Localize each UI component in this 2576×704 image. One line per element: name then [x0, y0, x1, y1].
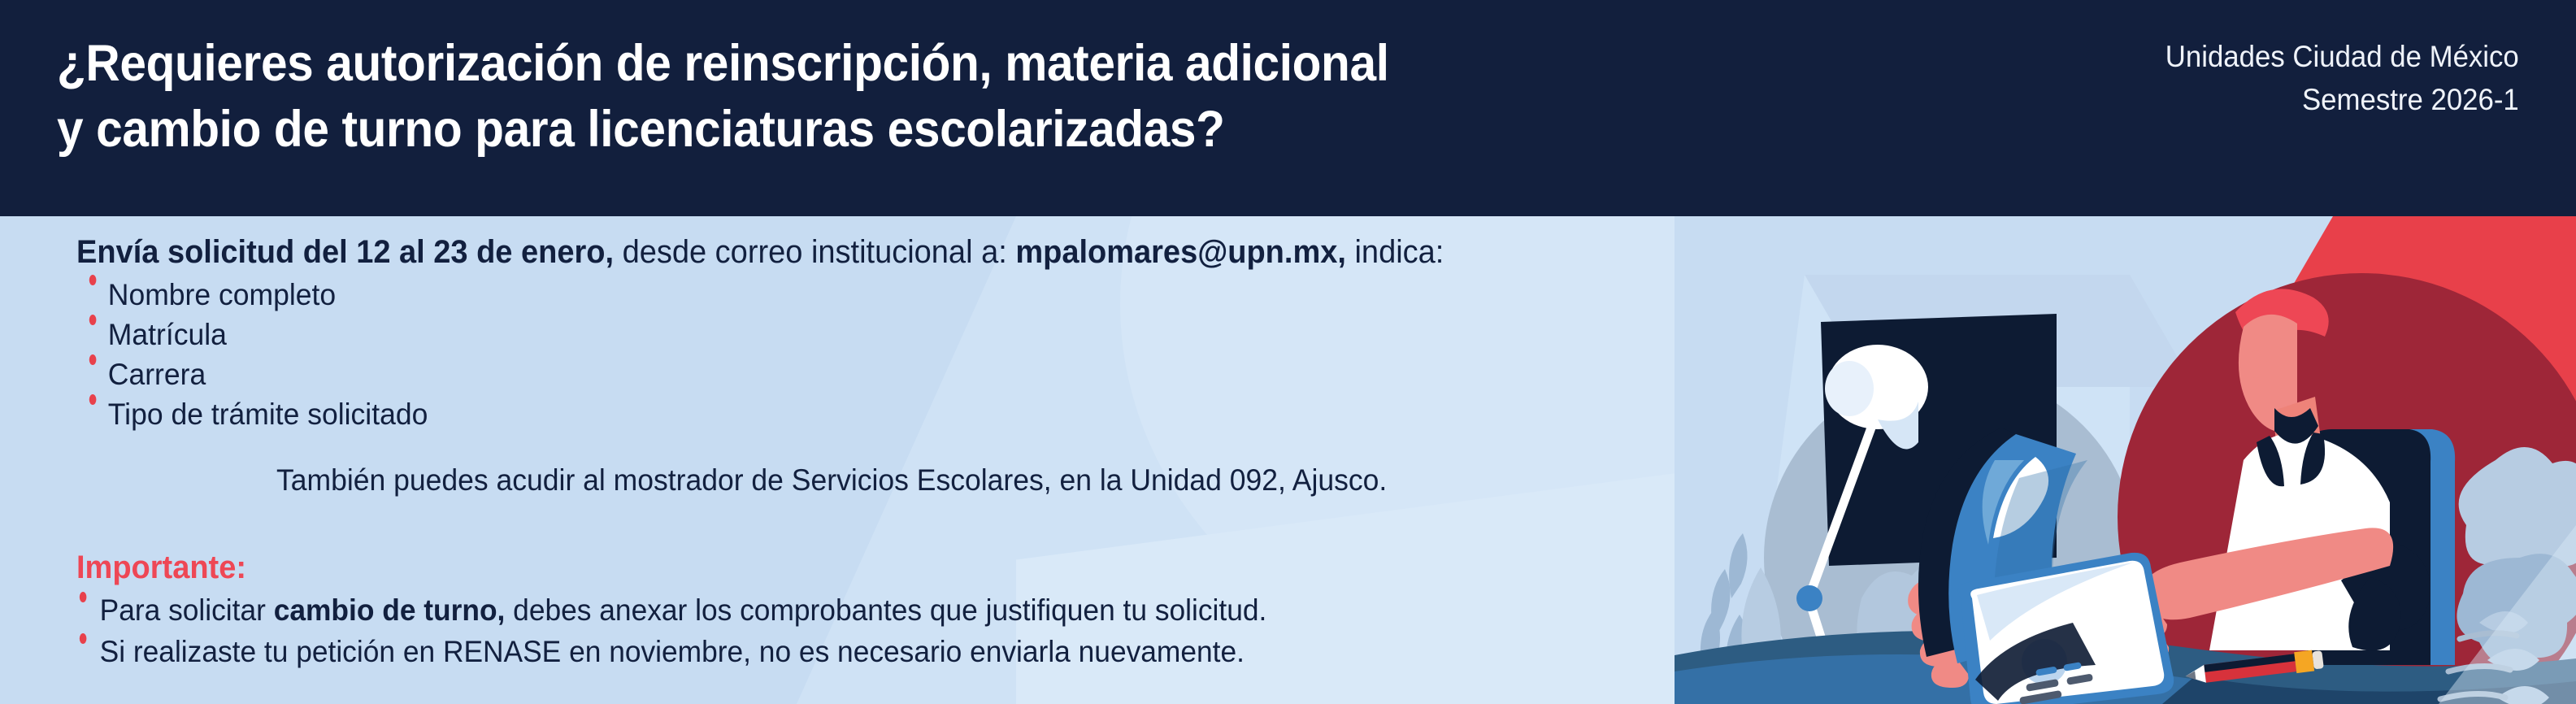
important-label: Importante:	[76, 551, 246, 584]
list-item: Tipo de trámite solicitado	[85, 399, 428, 439]
note-pre: Si realizaste tu petición en RENASE en n…	[100, 635, 1245, 668]
bullet-dot-icon	[80, 592, 87, 602]
bullet-dot-icon	[89, 275, 97, 285]
list-item: Carrera	[85, 359, 428, 399]
requirement-label: Nombre completo	[108, 278, 336, 311]
bullet-dot-icon	[89, 394, 97, 405]
header-meta-semester: Semestre 2026-1	[2165, 79, 2519, 122]
illustration-panel	[1675, 216, 2576, 704]
instructions-lead-text-1: desde correo institucional a:	[614, 234, 1015, 270]
banner-body-copy: Envía solicitud del 12 al 23 de enero, d…	[0, 216, 1707, 704]
list-item: Para solicitar cambio de turno, debes an…	[76, 595, 1266, 637]
list-item: Nombre completo	[85, 280, 428, 319]
requirement-label: Matrícula	[108, 318, 227, 351]
contact-email[interactable]: mpalomares@upn.mx,	[1015, 234, 1346, 270]
instructions-lead: Envía solicitud del 12 al 23 de enero, d…	[76, 236, 1444, 268]
illustration-artwork	[1675, 216, 2576, 704]
banner-header: ¿Requieres autorización de reinscripción…	[0, 0, 2576, 216]
page-title-line-1: ¿Requieres autorización de reinscripción…	[57, 31, 1720, 97]
requirement-label: Carrera	[108, 358, 206, 391]
instructions-lead-text-2: indica:	[1346, 234, 1444, 270]
bullet-dot-icon	[89, 354, 97, 365]
requirement-label: Tipo de trámite solicitado	[108, 398, 428, 431]
alternative-channel-note: También puedes acudir al mostrador de Se…	[276, 465, 1387, 495]
note-post: debes anexar los comprobantes que justif…	[505, 593, 1266, 627]
banner-root: ¿Requieres autorización de reinscripción…	[0, 0, 2576, 704]
header-meta-campus: Unidades Ciudad de México	[2165, 36, 2519, 79]
important-notes-list: Para solicitar cambio de turno, debes an…	[76, 595, 1323, 678]
bullet-dot-icon	[89, 315, 97, 325]
note-pre: Para solicitar	[100, 593, 274, 627]
instructions-lead-dates: Envía solicitud del 12 al 23 de enero,	[76, 234, 614, 270]
page-title: ¿Requieres autorización de reinscripción…	[57, 31, 1720, 162]
header-meta: Unidades Ciudad de México Semestre 2026-…	[2165, 36, 2519, 121]
list-item: Matrícula	[85, 319, 428, 359]
list-item: Si realizaste tu petición en RENASE en n…	[76, 637, 1266, 678]
page-title-line-2: y cambio de turno para licenciaturas esc…	[57, 97, 1720, 163]
note-emphasis: cambio de turno,	[274, 593, 506, 627]
requirements-list: Nombre completo Matrícula Carrera Tipo d…	[85, 280, 442, 439]
bullet-dot-icon	[80, 633, 87, 644]
